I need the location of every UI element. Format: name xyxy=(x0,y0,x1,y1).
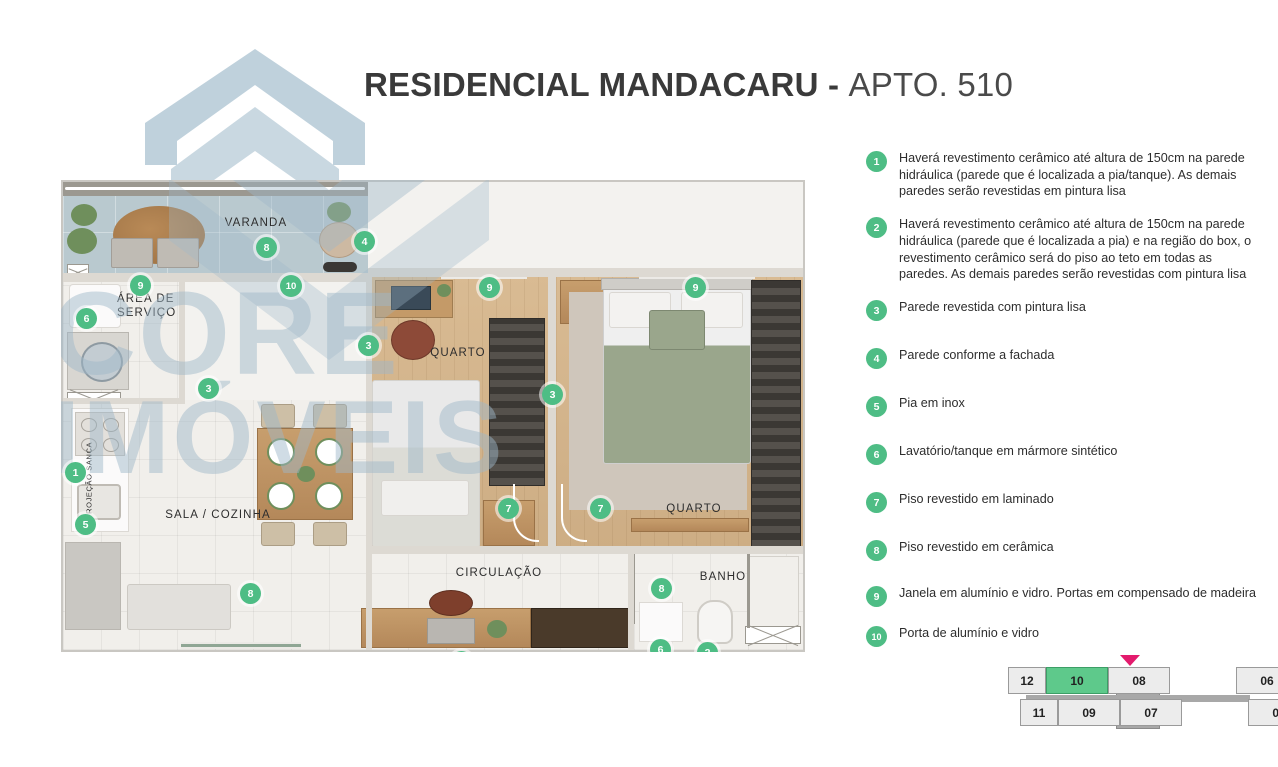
varanda-stool xyxy=(323,262,357,272)
title-light: APTO. 510 xyxy=(849,66,1013,103)
dining-chair-3 xyxy=(261,404,295,428)
legend-badge: 9 xyxy=(866,586,887,607)
legend-item: 10 Porta de alumínio e vidro xyxy=(866,625,1258,647)
legend-item: 3 Parede revestida com pintura lisa xyxy=(866,299,1258,321)
plan-marker-9: 9 xyxy=(479,277,500,298)
legend-text: Parede conforme a fachada xyxy=(899,347,1054,369)
railing-line xyxy=(65,187,365,190)
wall-quarto1-right xyxy=(548,275,556,552)
q1-bed xyxy=(372,380,480,548)
bathroom-door-symbol xyxy=(745,626,801,644)
legend-item: 7 Piso revestido em laminado xyxy=(866,491,1258,513)
wall-banho-left xyxy=(628,552,634,650)
wall-service-right xyxy=(179,275,185,404)
q2-cushion xyxy=(649,310,705,350)
q2-wardrobe xyxy=(751,280,801,548)
dining-chair-4 xyxy=(313,404,347,428)
varanda-plant-1 xyxy=(71,204,97,226)
legend-text: Lavatório/tanque em mármore sintético xyxy=(899,443,1117,465)
legend-item: 6 Lavatório/tanque em mármore sintético xyxy=(866,443,1258,465)
floor-key-unit-11[interactable]: 11 xyxy=(1020,699,1058,726)
title-dash: - xyxy=(819,66,849,103)
legend-item: 5 Pia em inox xyxy=(866,395,1258,417)
legend-badge: 5 xyxy=(866,396,887,417)
floor-key-unit-07[interactable]: 07 xyxy=(1120,699,1182,726)
bathroom-lavatory xyxy=(639,602,683,642)
plan-marker-7: 7 xyxy=(498,498,519,519)
floor-key-top-row: 121008060402 xyxy=(1008,667,1278,694)
legend-badge: 3 xyxy=(866,300,887,321)
q2-bench xyxy=(631,518,749,532)
legend-item: 1 Haverá revestimento cerâmico até altur… xyxy=(866,150,1258,200)
legend-text: Haverá revestimento cerâmico até altura … xyxy=(899,216,1258,283)
plan-marker-9: 9 xyxy=(130,275,151,296)
dining-chair-2 xyxy=(313,522,347,546)
washer-drum xyxy=(81,342,123,382)
plate-3 xyxy=(267,482,295,510)
projecao-sanca-label: PROJEÇÃO SANCA xyxy=(84,436,93,526)
legend-text: Pia em inox xyxy=(899,395,965,417)
plan-marker-8: 8 xyxy=(240,583,261,604)
legend-item: 2 Haverá revestimento cerâmico até altur… xyxy=(866,216,1258,283)
legend-badge: 6 xyxy=(866,444,887,465)
q2-headboard xyxy=(601,278,753,290)
page-title: RESIDENCIAL MANDACARU - APTO. 510 xyxy=(364,66,1013,104)
legend-badge: 8 xyxy=(866,540,887,561)
floor-key-diagram: 121008060402 110907050301 xyxy=(1008,655,1260,729)
hall-chair xyxy=(429,590,473,616)
legend-badge: 4 xyxy=(866,348,887,369)
varanda-plant-3 xyxy=(327,202,351,222)
plate-4 xyxy=(315,482,343,510)
hall-tv xyxy=(427,618,475,644)
plan-marker-3: 3 xyxy=(358,335,379,356)
legend-text: Parede revestida com pintura lisa xyxy=(899,299,1086,321)
legend-item: 8 Piso revestido em cerâmica xyxy=(866,539,1258,561)
banho-shower-wall xyxy=(747,552,750,628)
varanda-side-table xyxy=(319,222,359,258)
sofa xyxy=(127,584,231,630)
table-centerpiece xyxy=(297,466,315,482)
varanda-bench-2 xyxy=(157,238,199,268)
cooktop-burner-4 xyxy=(103,438,119,452)
q1-wardrobe xyxy=(489,318,545,486)
floor-key-unit-08[interactable]: 08 xyxy=(1108,667,1170,694)
window-living-bottom xyxy=(181,642,301,649)
plan-marker-6: 6 xyxy=(76,308,97,329)
floor-key-unit-12[interactable]: 12 xyxy=(1008,667,1046,694)
varanda-plant-2 xyxy=(67,228,97,254)
bathroom-toilet xyxy=(697,600,733,644)
floor-key-unit-06[interactable]: 06 xyxy=(1236,667,1278,694)
plate-1 xyxy=(267,438,295,466)
title-bold: RESIDENCIAL MANDACARU xyxy=(364,66,819,103)
plan-marker-1: 1 xyxy=(65,462,86,483)
plan-marker-5: 5 xyxy=(75,514,96,535)
legend-text: Haverá revestimento cerâmico até altura … xyxy=(899,150,1258,200)
dining-chair-1 xyxy=(261,522,295,546)
plan-marker-7: 7 xyxy=(590,498,611,519)
floorplan-image: VARANDA ÁREA DE SERVIÇO PROJEÇÃO SANCA xyxy=(61,180,805,652)
plan-marker-8: 8 xyxy=(256,237,277,258)
room-label-quarto-1: QUARTO xyxy=(413,346,503,360)
hall-shelf xyxy=(531,608,635,648)
legend-badge: 7 xyxy=(866,492,887,513)
floor-key-unit-05[interactable]: 05 xyxy=(1248,699,1278,726)
wall-service-bottom xyxy=(63,398,181,404)
cooktop-burner-2 xyxy=(103,418,119,432)
plan-marker-3: 3 xyxy=(542,384,563,405)
varanda-bench-1 xyxy=(111,238,153,268)
room-label-area-servico: ÁREA DE SERVIÇO xyxy=(117,292,213,321)
wall-top-right xyxy=(368,268,803,277)
refrigerator xyxy=(65,542,121,630)
legend-text: Janela em alumínio e vidro. Portas em co… xyxy=(899,585,1256,607)
room-label-quarto-2: QUARTO xyxy=(649,502,739,516)
plan-marker-4: 4 xyxy=(354,231,375,252)
legend-text: Piso revestido em laminado xyxy=(899,491,1054,513)
legend-text: Piso revestido em cerâmica xyxy=(899,539,1054,561)
wall-bedrooms-bottom xyxy=(370,546,803,554)
q1-pillow xyxy=(381,480,469,516)
cooktop-burner-1 xyxy=(81,418,97,432)
plan-marker-9: 9 xyxy=(685,277,706,298)
wall-sala-right xyxy=(366,275,372,650)
floorplan-page: RESIDENCIAL MANDACARU - APTO. 510 VARAND… xyxy=(0,0,1278,767)
legend-badge: 10 xyxy=(866,626,887,647)
legend-text: Porta de alumínio e vidro xyxy=(899,625,1039,647)
floor-key-bottom-row: 110907050301 xyxy=(1008,699,1278,726)
room-label-varanda: VARANDA xyxy=(201,216,311,230)
legend-item: 4 Parede conforme a fachada xyxy=(866,347,1258,369)
wall-varanda-bottom xyxy=(63,273,368,282)
legend-badge: 2 xyxy=(866,217,887,238)
q1-plant xyxy=(437,284,451,297)
room-label-circulacao: CIRCULAÇÃO xyxy=(429,566,569,580)
plate-2 xyxy=(315,438,343,466)
legend-list: 1 Haverá revestimento cerâmico até altur… xyxy=(866,150,1258,663)
legend-item: 9 Janela em alumínio e vidro. Portas em … xyxy=(866,585,1258,607)
down-arrow-marker-icon xyxy=(1120,655,1140,666)
legend-badge: 1 xyxy=(866,151,887,172)
room-label-sala-cozinha: SALA / COZINHA xyxy=(143,508,293,522)
q1-laptop xyxy=(391,286,431,310)
plan-marker-8: 8 xyxy=(651,578,672,599)
plan-marker-3: 3 xyxy=(198,378,219,399)
hall-plant xyxy=(487,620,507,638)
floor-key-unit-10[interactable]: 10 xyxy=(1046,667,1108,694)
floor-key-unit-09[interactable]: 09 xyxy=(1058,699,1120,726)
plan-marker-10: 10 xyxy=(280,275,302,297)
